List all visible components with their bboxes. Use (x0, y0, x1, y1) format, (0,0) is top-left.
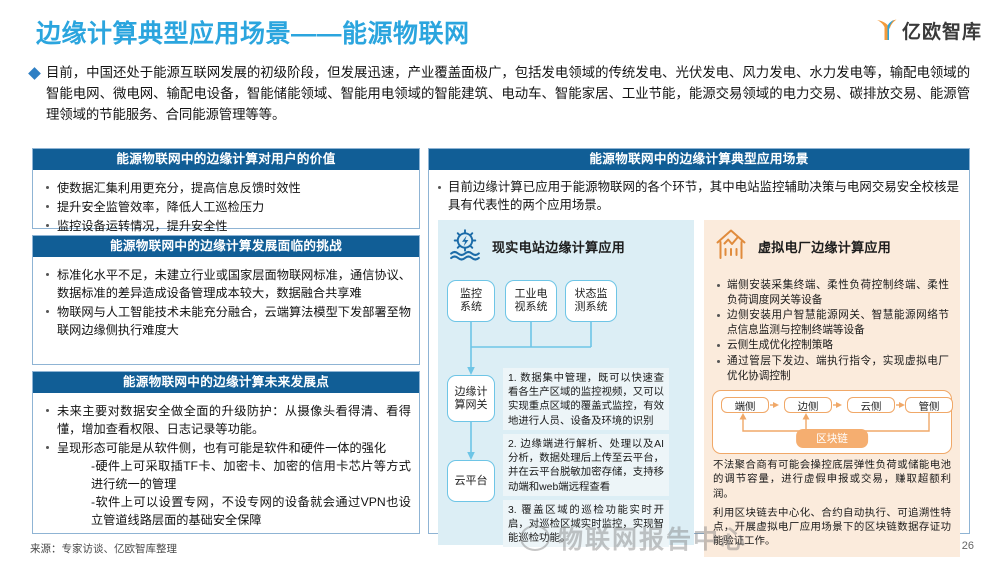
brand-logo: 亿欧智库 (875, 16, 982, 44)
panel-challenges-body: 标准化水平不足，未建立行业或国家层面物联网标准，通信协议、数据标准的差异造成设备… (33, 257, 419, 346)
chain-chip-device-side: 端侧 (721, 397, 769, 413)
flow-node-monitoring-system: 监控系统 (447, 280, 495, 322)
list-item-text: 呈现形态可能是从软件侧，也有可能是软件和硬件一体的强化 (57, 441, 386, 455)
list-item: 提升安全监管效率，降低人工巡检压力 (41, 198, 411, 216)
intro-paragraph: 目前，中国还处于能源互联网发展的初级阶段，但发展迅速，产业覆盖面极广，包括发电领… (30, 62, 970, 125)
sub-list-item: -软件上可以设置专网，不设专网的设备就会通过VPN也设立管道线路层面的基础安全保… (57, 493, 411, 529)
list-item: 标准化水平不足，未建立行业或国家层面物联网标准，通信协议、数据标准的差异造成设备… (41, 266, 411, 302)
page-number: 26 (962, 540, 974, 552)
virtual-power-plant-icon (714, 227, 748, 266)
panel-typical-scenarios: 能源物联网中的边缘计算典型应用场景 目前边缘计算已应用于能源物联网的各个环节，其… (428, 148, 970, 534)
flow-node-edge-gateway: 边缘计算网关 (447, 375, 495, 422)
future-points-list: 未来主要对数据安全做全面的升级防护：从摄像头看得清、看得懂，增加查看权限、日志记… (41, 402, 411, 529)
list-item: 使数据汇集利用更充分，提高信息反馈时效性 (41, 179, 411, 197)
slide-header: 边缘计算典型应用场景——能源物联网 亿欧智库 (0, 0, 1000, 54)
flow-node-cloud-platform: 云平台 (447, 460, 495, 502)
list-item: 云侧生成优化控制策略 (713, 338, 949, 353)
slide-root: 边缘计算典型应用场景——能源物联网 亿欧智库 目前，中国还处于能源互联网发展的初… (0, 0, 1000, 562)
vpp-feature-list: 端侧安装采集终端、柔性负荷控制终端、柔性负荷调度网关等设备 边侧安装用户智慧能源… (711, 272, 953, 388)
scenario-virtual-power-plant-header: 虚拟电厂边缘计算应用 (704, 220, 960, 272)
list-item: 通过管层下发边、端执行指令，实现虚拟电厂优化协调控制 (713, 354, 949, 383)
blockchain-badge: 区块链 (796, 429, 868, 448)
panel-future-points-body: 未来主要对数据安全做全面的升级防护：从摄像头看得清、看得懂，增加查看权限、日志记… (33, 393, 419, 536)
scenario-virtual-power-plant: 虚拟电厂边缘计算应用 端侧安装采集终端、柔性负荷控制终端、柔性负荷调度网关等设备… (704, 220, 960, 557)
flow-node-industrial-tv-system: 工业电视系统 (505, 280, 557, 322)
logo-text: 亿欧智库 (902, 17, 982, 44)
panel-user-value-title: 能源物联网中的边缘计算对用户的价值 (33, 149, 419, 170)
flow-note-3: 3. 覆盖区域的巡检功能实时开启，对巡检区域实时监控，实现智能巡检功能。 (503, 500, 669, 547)
panel-user-value: 能源物联网中的边缘计算对用户的价值 使数据汇集利用更充分，提高信息反馈时效性 提… (32, 148, 420, 229)
panel-challenges-title: 能源物联网中的边缘计算发展面临的挑战 (33, 236, 419, 257)
scenario-real-station-title: 现实电站边缘计算应用 (492, 237, 625, 256)
list-item: 物联网与人工智能技术未能充分融合，云端算法模型下发部署至物联网边缘侧执行难度大 (41, 303, 411, 339)
scenario-real-station: 现实电站边缘计算应用 (438, 220, 694, 557)
scenarios-intro: 目前边缘计算已应用于能源物联网的各个环节，其中电站监控辅助决策与电网交易安全校核… (429, 170, 969, 220)
solar-power-station-icon (448, 227, 482, 266)
chain-chip-cloud-side: 云侧 (847, 397, 895, 413)
panel-challenges: 能源物联网中的边缘计算发展面临的挑战 标准化水平不足，未建立行业或国家层面物联网… (32, 235, 420, 365)
yiou-y-mark-icon (875, 17, 899, 43)
panel-future-points: 能源物联网中的边缘计算未来发展点 未来主要对数据安全做全面的升级防护：从摄像头看… (32, 371, 420, 534)
scenario-virtual-power-plant-title: 虚拟电厂边缘计算应用 (758, 237, 891, 256)
list-item: 未来主要对数据安全做全面的升级防护：从摄像头看得清、看得懂，增加查看权限、日志记… (41, 402, 411, 438)
sub-list-item: -硬件上可采取插TF卡、加密卡、加密的信用卡芯片等方式进行统一的管理 (57, 457, 411, 493)
list-item: 边侧安装用户智慧能源网关、智慧能源网络节点信息监测与控制终端等设备 (713, 308, 949, 337)
flow-node-status-monitoring-system: 状态监测系统 (565, 280, 617, 322)
vpp-note-2: 利用区块链去中心化、合约自动执行、可追溯性特点，开展虚拟电厂应用场景下的区块链数… (711, 507, 953, 550)
blockchain-flow-diagram: 端侧 边侧 云侧 管侧 区块链 (712, 390, 952, 454)
list-item: 监控设备运转情况，提升安全性 (41, 217, 411, 235)
chain-chip-pipe-side: 管侧 (905, 397, 953, 413)
edge-computing-flow-diagram: 监控系统 工业电视系统 状态监测系统 边缘计算网关 云平台 1. 数据集中管理，… (445, 272, 687, 537)
chain-chip-edge-side: 边侧 (784, 397, 832, 413)
challenges-list: 标准化水平不足，未建立行业或国家层面物联网标准，通信协议、数据标准的差异造成设备… (41, 266, 411, 339)
scenario-columns: 现实电站边缘计算应用 (429, 220, 969, 566)
scenario-real-station-body: 监控系统 工业电视系统 状态监测系统 边缘计算网关 云平台 1. 数据集中管理，… (438, 272, 694, 545)
diamond-bullet-icon (28, 67, 41, 80)
list-item: 端侧安装采集终端、柔性负荷控制终端、柔性负荷调度网关等设备 (713, 278, 949, 307)
flow-note-1: 1. 数据集中管理，既可以快速查看各生产区域的监控视频，又可以实现重点区域的覆盖… (503, 368, 669, 430)
scenario-virtual-power-plant-body: 端侧安装采集终端、柔性负荷控制终端、柔性负荷调度网关等设备 边侧安装用户智慧能源… (704, 272, 960, 557)
source-note: 来源：专家访谈、亿欧智库整理 (30, 541, 177, 556)
scenario-real-station-header: 现实电站边缘计算应用 (438, 220, 694, 272)
scenarios-intro-text: 目前边缘计算已应用于能源物联网的各个环节，其中电站监控辅助决策与电网交易安全校核… (448, 178, 959, 214)
list-item: 呈现形态可能是从软件侧，也有可能是软件和硬件一体的强化 -硬件上可采取插TF卡、… (41, 439, 411, 529)
vpp-note-1: 不法聚合商有可能会操控底层弹性负荷或储能电池的调节容量，进行虚假申报或交易，赚取… (711, 459, 953, 502)
intro-text: 目前，中国还处于能源互联网发展的初级阶段，但发展迅速，产业覆盖面极广，包括发电领… (46, 62, 970, 125)
flow-note-2: 2. 边缘端进行解析、处理以及AI分析，数据处理后上传至云平台，并在云平台脱敏加… (503, 434, 669, 496)
page-title: 边缘计算典型应用场景——能源物联网 (36, 14, 470, 50)
panel-future-points-title: 能源物联网中的边缘计算未来发展点 (33, 372, 419, 393)
bullet-dot-icon (438, 186, 441, 189)
panel-typical-scenarios-title: 能源物联网中的边缘计算典型应用场景 (429, 149, 969, 170)
